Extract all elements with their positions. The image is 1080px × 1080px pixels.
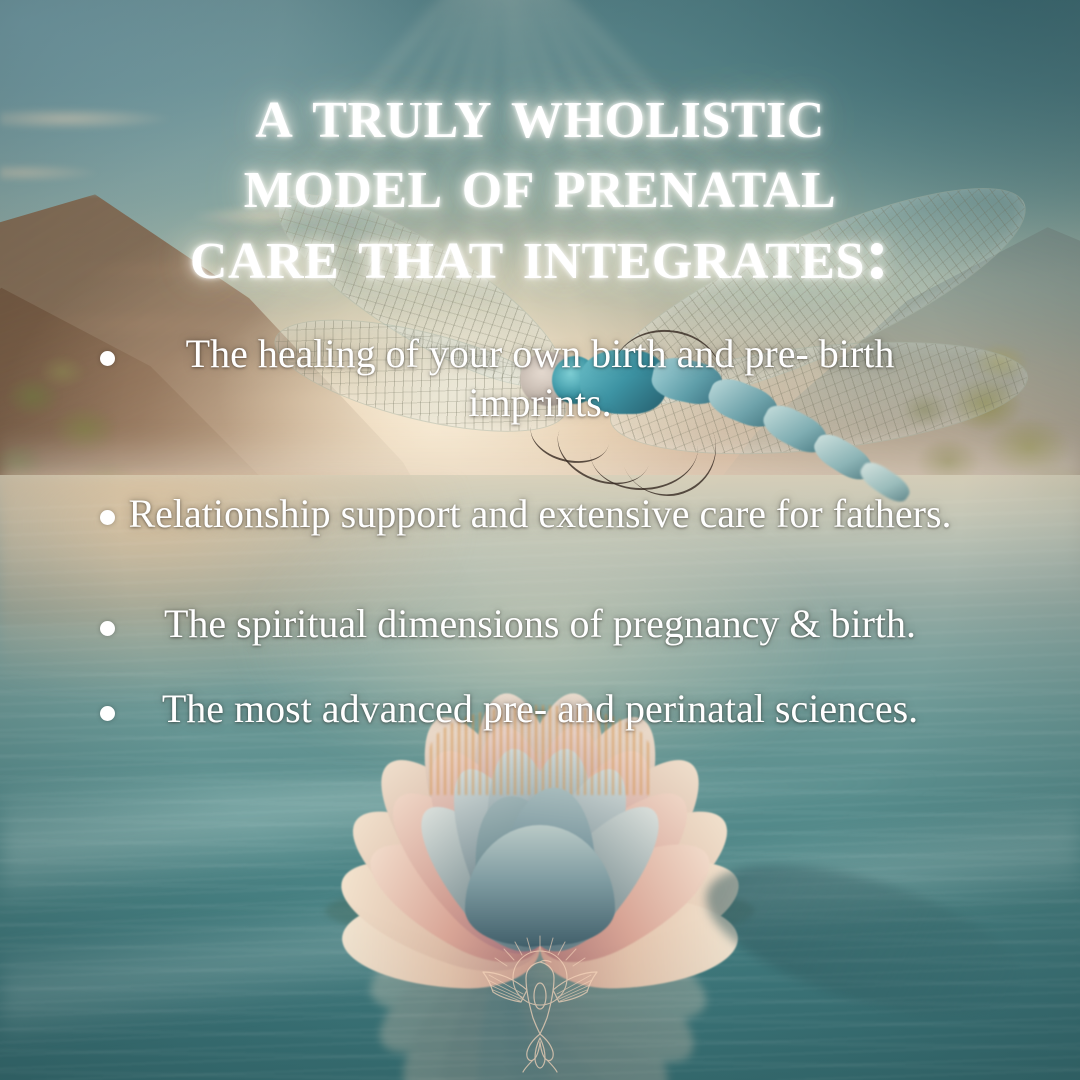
bullet-dot-icon: [100, 706, 115, 721]
list-item: The spiritual dimensions of pregnancy & …: [26, 600, 1054, 649]
bullet-dot-icon: [100, 351, 115, 366]
headline-line-3: care that integrates:: [0, 219, 1080, 289]
page-title: A truly wholistic model of prenatal care…: [0, 78, 1080, 289]
list-item: Relationship support and extensive care …: [26, 490, 1054, 539]
poster-content: A truly wholistic model of prenatal care…: [0, 0, 1080, 1080]
list-item: The healing of your own birth and pre- b…: [26, 330, 1054, 428]
list-item-label: The most advanced pre- and perinatal sci…: [104, 685, 976, 734]
list-item: The most advanced pre- and perinatal sci…: [26, 685, 1054, 734]
list-item-label: The healing of your own birth and pre- b…: [26, 330, 1054, 428]
list-item-label: The spiritual dimensions of pregnancy & …: [106, 600, 974, 649]
bullet-list: The healing of your own birth and pre- b…: [0, 330, 1080, 734]
headline-line-1: A truly wholistic: [0, 78, 1080, 148]
poster-canvas: A truly wholistic model of prenatal care…: [0, 0, 1080, 1080]
list-item-label: Relationship support and extensive care …: [38, 490, 1041, 539]
headline-line-2: model of prenatal: [0, 148, 1080, 218]
